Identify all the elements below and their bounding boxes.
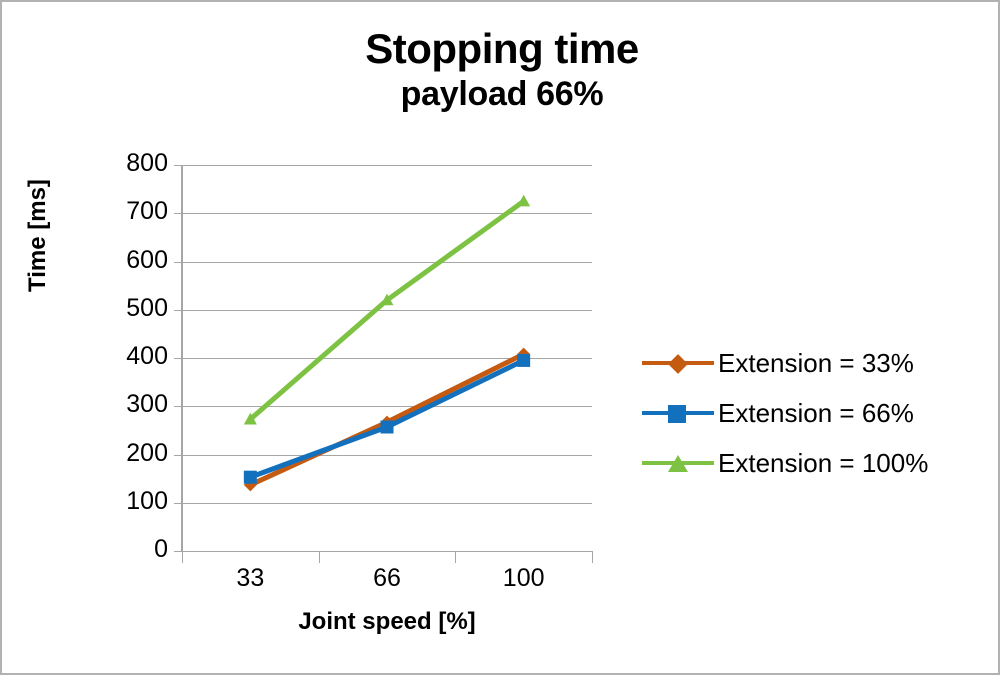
x-axis-tick xyxy=(319,551,320,563)
y-axis-title: Time [ms] xyxy=(24,179,52,292)
x-axis-tick-label: 66 xyxy=(332,564,442,593)
y-axis-tick-label: 700 xyxy=(98,197,168,226)
series-plot xyxy=(182,165,592,551)
legend-swatch xyxy=(642,450,714,476)
x-axis-tick-label: 100 xyxy=(469,564,579,593)
x-axis-tick-labels: 3366100 xyxy=(182,564,592,600)
y-axis-tick xyxy=(174,503,182,504)
x-axis-ticks xyxy=(182,551,592,565)
y-axis-tick xyxy=(174,213,182,214)
legend-label: Extension = 66% xyxy=(714,398,914,429)
data-point-marker xyxy=(517,195,530,207)
y-axis-tick-label: 0 xyxy=(98,535,168,564)
legend-item[interactable]: Extension = 100% xyxy=(642,438,992,488)
series-line xyxy=(250,201,523,419)
y-axis-tick-label: 300 xyxy=(98,390,168,419)
y-axis-tick xyxy=(174,551,182,552)
x-axis-tick xyxy=(182,551,183,563)
legend-marker-diamond-icon xyxy=(668,354,688,374)
legend-item[interactable]: Extension = 33% xyxy=(642,338,992,388)
legend-swatch xyxy=(642,350,714,376)
y-axis-tick-label: 500 xyxy=(98,294,168,323)
data-point-marker xyxy=(381,420,394,433)
chart-legend: Extension = 33%Extension = 66%Extension … xyxy=(642,338,992,488)
y-axis-tick xyxy=(174,455,182,456)
chart-title-block: Stopping time payload 66% xyxy=(2,26,1000,114)
y-axis-tick-label: 200 xyxy=(98,439,168,468)
y-axis-tick xyxy=(174,165,182,166)
y-axis-tick-label: 400 xyxy=(98,342,168,371)
y-axis-tick xyxy=(174,406,182,407)
legend-label: Extension = 33% xyxy=(714,348,914,379)
y-axis-tick-label: 600 xyxy=(98,246,168,275)
chart-container: Stopping time payload 66% Time [ms] 0100… xyxy=(0,0,1000,675)
x-axis-tick xyxy=(592,551,593,563)
y-axis-tick xyxy=(174,310,182,311)
chart-title: Stopping time xyxy=(2,26,1000,71)
y-axis-tick-labels: 0100200300400500600700800 xyxy=(90,165,168,551)
x-axis-title: Joint speed [%] xyxy=(182,608,592,636)
y-axis-tick xyxy=(174,358,182,359)
data-point-marker xyxy=(244,471,257,484)
chart-subtitle: payload 66% xyxy=(2,75,1000,114)
legend-swatch xyxy=(642,400,714,426)
x-axis-tick-label: 33 xyxy=(195,564,305,593)
y-axis-tick xyxy=(174,262,182,263)
legend-label: Extension = 100% xyxy=(714,448,928,479)
legend-item[interactable]: Extension = 66% xyxy=(642,388,992,438)
data-point-marker xyxy=(517,354,530,367)
legend-marker-square-icon xyxy=(668,405,686,423)
y-axis-tick-label: 100 xyxy=(98,487,168,516)
y-axis-tick-label: 800 xyxy=(98,149,168,178)
x-axis-tick xyxy=(455,551,456,563)
legend-marker-triangle-icon xyxy=(668,455,688,472)
